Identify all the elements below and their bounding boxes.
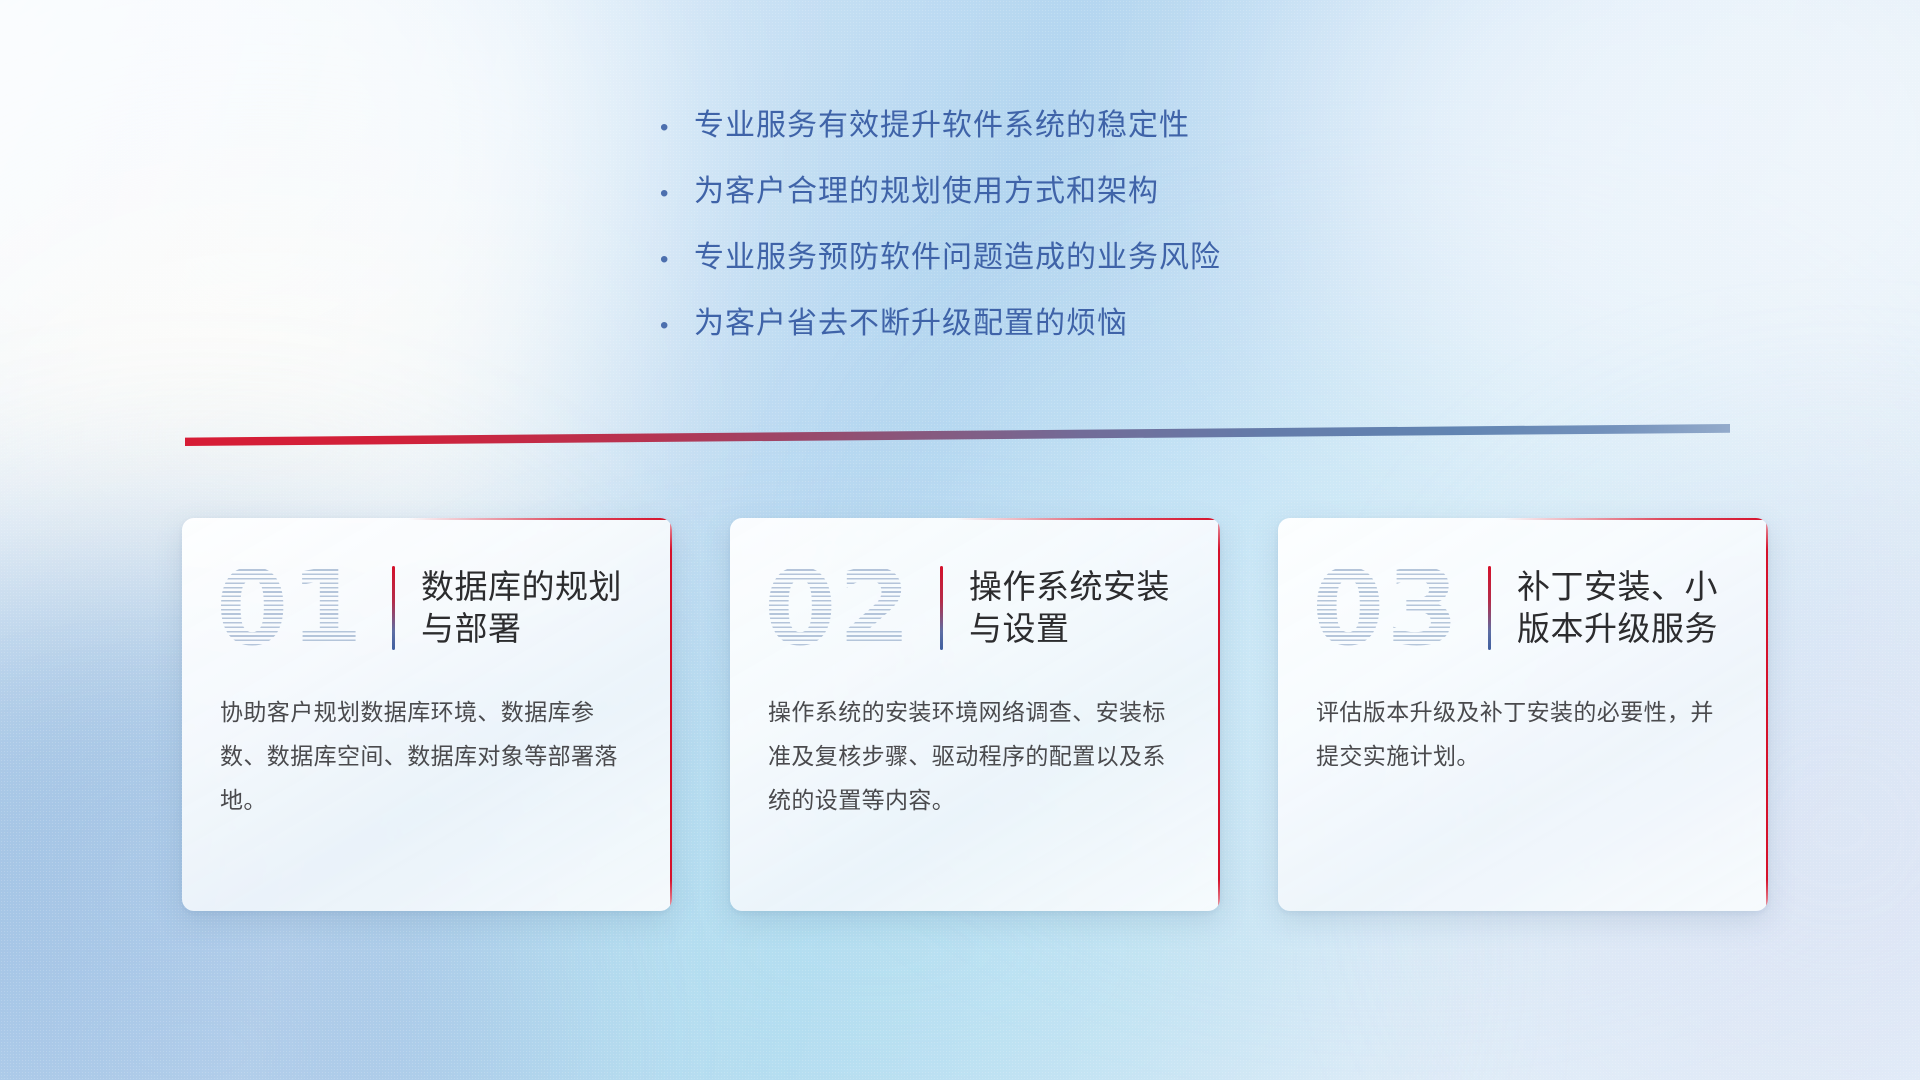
card-description: 评估版本升级及补丁安装的必要性，并提交实施计划。 bbox=[1278, 664, 1768, 778]
service-card-list: 01 数据库的规划与部署 协助客户规划数据库环境、数据库参数、数据库空间、数据库… bbox=[182, 518, 1768, 911]
card-divider-rule bbox=[1488, 566, 1491, 650]
service-card-02[interactable]: 02 操作系统安装与设置 操作系统的安装环境网络调查、安装标准及复核步骤、驱动程… bbox=[730, 518, 1220, 911]
card-divider-rule bbox=[940, 566, 943, 650]
bullet-marker-icon: • bbox=[660, 182, 694, 206]
bullet-item-label: 专业服务有效提升软件系统的稳定性 bbox=[694, 108, 1190, 144]
card-number-watermark: 02 bbox=[764, 556, 936, 660]
divider-gradient-line bbox=[185, 424, 1730, 446]
card-title: 数据库的规划与部署 bbox=[421, 566, 642, 650]
bullet-item: • 为客户合理的规划使用方式和架构 bbox=[660, 174, 1420, 210]
service-card-03[interactable]: 03 补丁安装、小版本升级服务 评估版本升级及补丁安装的必要性，并提交实施计划。 bbox=[1278, 518, 1768, 911]
bullet-marker-icon: • bbox=[660, 248, 694, 272]
benefits-bullet-list: • 专业服务有效提升软件系统的稳定性 • 为客户合理的规划使用方式和架构 • 专… bbox=[660, 108, 1420, 372]
card-divider-rule bbox=[392, 566, 395, 650]
card-header: 03 补丁安装、小版本升级服务 bbox=[1278, 518, 1768, 664]
service-card-01[interactable]: 01 数据库的规划与部署 协助客户规划数据库环境、数据库参数、数据库空间、数据库… bbox=[182, 518, 672, 911]
card-number-watermark: 03 bbox=[1312, 556, 1484, 660]
card-description: 协助客户规划数据库环境、数据库参数、数据库空间、数据库对象等部署落地。 bbox=[182, 664, 672, 822]
card-header: 01 数据库的规划与部署 bbox=[182, 518, 672, 664]
card-number-watermark: 01 bbox=[216, 556, 388, 660]
bullet-marker-icon: • bbox=[660, 116, 694, 140]
bullet-item-label: 为客户省去不断升级配置的烦恼 bbox=[694, 306, 1128, 342]
bullet-marker-icon: • bbox=[660, 314, 694, 338]
card-title: 补丁安装、小版本升级服务 bbox=[1517, 566, 1738, 650]
section-divider bbox=[185, 424, 1730, 446]
bullet-item-label: 专业服务预防软件问题造成的业务风险 bbox=[694, 240, 1221, 276]
card-header: 02 操作系统安装与设置 bbox=[730, 518, 1220, 664]
card-description: 操作系统的安装环境网络调查、安装标准及复核步骤、驱动程序的配置以及系统的设置等内… bbox=[730, 664, 1220, 822]
card-title: 操作系统安装与设置 bbox=[969, 566, 1190, 650]
bullet-item: • 为客户省去不断升级配置的烦恼 bbox=[660, 306, 1420, 342]
background-glow-top-left bbox=[0, 0, 640, 540]
bullet-item: • 专业服务有效提升软件系统的稳定性 bbox=[660, 108, 1420, 144]
bullet-item-label: 为客户合理的规划使用方式和架构 bbox=[694, 174, 1159, 210]
bullet-item: • 专业服务预防软件问题造成的业务风险 bbox=[660, 240, 1420, 276]
